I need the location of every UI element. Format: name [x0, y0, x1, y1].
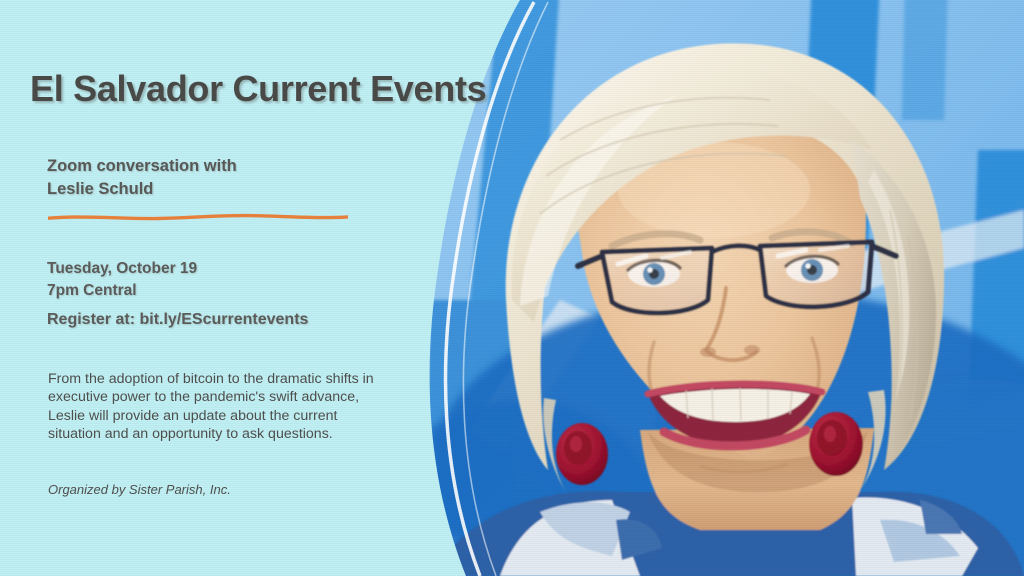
- registration-link[interactable]: Register at: bit.ly/EScurrentevents: [47, 311, 308, 329]
- subtitle-line-1: Zoom conversation with: [47, 157, 237, 175]
- event-flyer-slide: El Salvador Current Events Zoom conversa…: [0, 0, 1024, 576]
- event-subtitle: Zoom conversation with Leslie Schuld: [47, 155, 237, 202]
- speaker-name: Leslie Schuld: [47, 180, 153, 198]
- event-datetime: Tuesday, October 19 7pm Central: [47, 258, 197, 302]
- text-column: El Salvador Current Events Zoom conversa…: [0, 0, 480, 576]
- page-title: El Salvador Current Events: [30, 68, 486, 110]
- event-description: From the adoption of bitcoin to the dram…: [48, 370, 378, 444]
- orange-brush-divider: [46, 208, 350, 224]
- organizer-credit: Organized by Sister Parish, Inc.: [48, 482, 231, 497]
- event-time: 7pm Central: [47, 282, 137, 299]
- event-date: Tuesday, October 19: [47, 260, 197, 277]
